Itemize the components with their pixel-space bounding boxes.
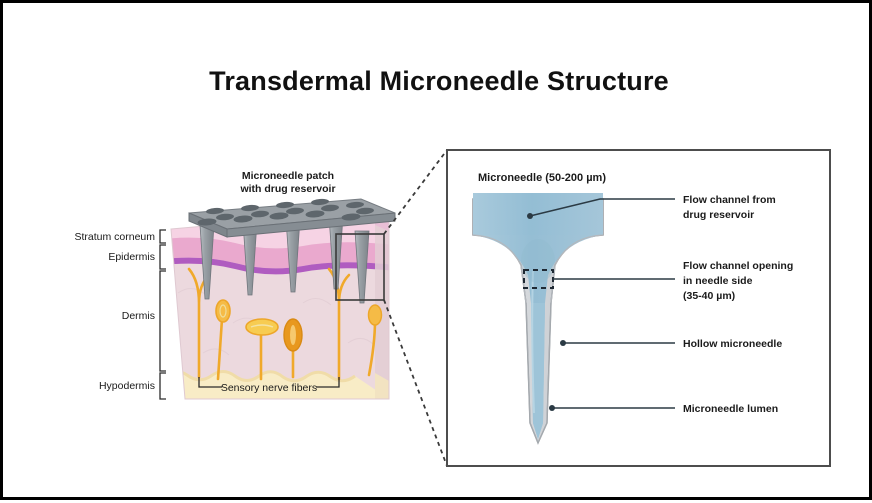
nerve-ending-lamellar-core (290, 325, 296, 345)
skin-diagram: Microneedle patch with drug reservoir St… (74, 170, 395, 403)
bracket-stratum-corneum (160, 230, 166, 243)
detail-panel: Microneedle (50-200 µm) (447, 150, 830, 466)
layer-label-epidermis: Epidermis (108, 251, 155, 263)
callout-opening-line1: Flow channel opening (683, 260, 793, 272)
callout-microneedle-lumen: Microneedle lumen (683, 403, 778, 415)
callout-dot (527, 213, 533, 219)
patch-label-line1: Microneedle patch (242, 170, 334, 182)
figure-canvas: Microneedle patch with drug reservoir St… (3, 3, 872, 503)
callout-flow-channel-line1: Flow channel from (683, 194, 776, 206)
patch-label-line2: with drug reservoir (239, 183, 335, 195)
callout-dot (549, 405, 555, 411)
sensory-nerve-label: Sensory nerve fibers (221, 382, 317, 394)
lumen-shading (521, 239, 555, 283)
bracket-epidermis (160, 245, 166, 269)
nerve-ending-bulb (216, 300, 230, 322)
callout-flow-channel-line2: drug reservoir (683, 209, 754, 221)
callout-opening-line2: in needle side (683, 275, 753, 287)
detail-panel-header: Microneedle (50-200 µm) (478, 172, 606, 184)
layer-label-stratum-corneum: Stratum corneum (74, 231, 155, 243)
nerve-ending-disc (246, 319, 278, 335)
layer-label-hypodermis: Hypodermis (99, 380, 155, 392)
bracket-hypodermis (160, 373, 166, 399)
figure-frame: Transdermal Microneedle Structure (0, 0, 872, 500)
nerve-ending-bulb-2 (369, 305, 382, 325)
layer-label-dermis: Dermis (122, 310, 155, 322)
callout-hollow-microneedle: Hollow microneedle (683, 338, 782, 350)
callout-dot (560, 340, 566, 346)
callout-opening-line3: (35-40 µm) (683, 290, 735, 302)
layer-brackets (160, 230, 166, 399)
zoom-connector-lines (384, 150, 447, 466)
bracket-dermis (160, 271, 166, 371)
